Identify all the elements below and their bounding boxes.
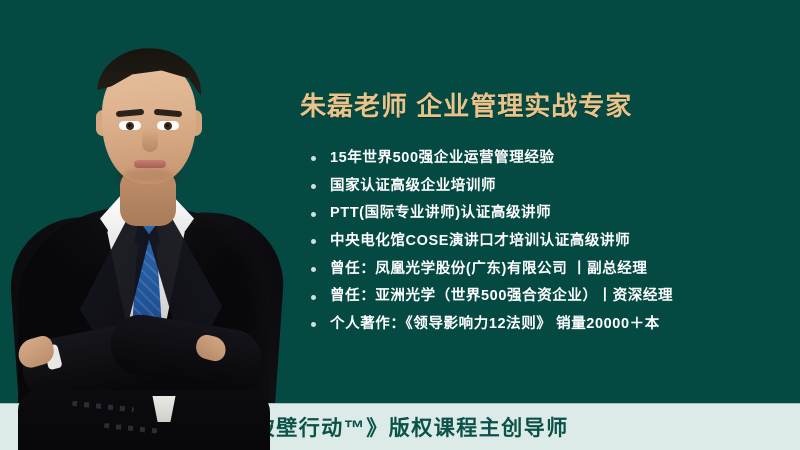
eye-right — [157, 121, 179, 130]
list-item: 中央电化馆COSE演讲口才培训认证高级讲师 — [300, 228, 800, 256]
nose — [142, 128, 158, 152]
list-item-label: 国家认证高级企业培训师 — [330, 178, 496, 194]
jacket-stitching-lower — [104, 423, 162, 434]
list-item-label: 15年世界500强企业运营管理经验 — [330, 150, 555, 166]
bullet-dot-icon — [311, 295, 316, 300]
jacket-stitching-upper — [72, 401, 134, 412]
shirt-peek — [148, 396, 180, 422]
mouth — [134, 160, 166, 168]
bullet-dot-icon — [311, 322, 316, 327]
list-item: 曾任：亚洲光学（世界500强合资企业）丨资深经理 — [300, 283, 800, 311]
eye-left — [119, 121, 141, 130]
list-item-label: 个人著作：《领导影响力12法则》 销量20000＋本 — [330, 316, 660, 332]
iris-left — [126, 122, 134, 130]
bullet-dot-icon — [311, 156, 316, 161]
list-item-label: 曾任：凤凰光学股份(广东)有限公司 丨副总经理 — [330, 261, 647, 277]
bullet-dot-icon — [311, 212, 316, 217]
list-item: 国家认证高级企业培训师 — [300, 173, 800, 201]
list-item: 个人著作：《领导影响力12法则》 销量20000＋本 — [300, 311, 800, 339]
chin-shadow — [124, 168, 174, 182]
page-title: 朱磊老师 企业管理实战专家 — [300, 86, 632, 123]
list-item: PTT(国际专业讲师)认证高级讲师 — [300, 200, 800, 228]
list-item-label: 中央电化馆COSE演讲口才培训认证高级讲师 — [330, 233, 630, 249]
torso-overlap — [18, 390, 270, 450]
list-item: 曾任：凤凰光学股份(广东)有限公司 丨副总经理 — [300, 256, 800, 284]
portrait-stage — [0, 0, 300, 450]
content-column: 朱磊老师 企业管理实战专家 15年世界500强企业运营管理经验 国家认证高级企业… — [292, 0, 800, 402]
presenter-portrait — [0, 0, 300, 450]
credentials-list: 15年世界500强企业运营管理经验 国家认证高级企业培训师 PTT(国际专业讲师… — [300, 145, 800, 339]
iris-right — [164, 122, 172, 130]
bullet-dot-icon — [311, 239, 316, 244]
list-item-label: PTT(国际专业讲师)认证高级讲师 — [330, 205, 551, 221]
bullet-dot-icon — [311, 267, 316, 272]
presenter-intro-slide: 朱磊老师 企业管理实战专家 15年世界500强企业运营管理经验 国家认证高级企业… — [0, 0, 800, 450]
list-item-label: 曾任：亚洲光学（世界500强合资企业）丨资深经理 — [330, 288, 673, 304]
bullet-dot-icon — [311, 184, 316, 189]
list-item: 15年世界500强企业运营管理经验 — [300, 145, 800, 173]
